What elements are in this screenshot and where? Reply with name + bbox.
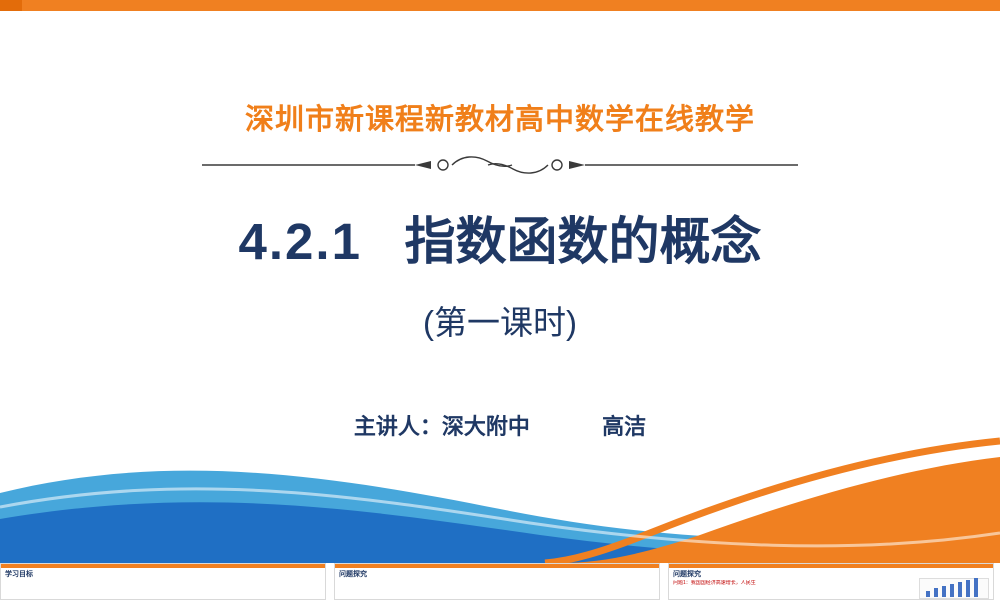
thumbnail-title: 问题探究 <box>673 569 701 579</box>
thumbnail-chart-bar <box>950 584 954 597</box>
thumbnail-chart-bar <box>958 582 962 597</box>
thumbnail-chart-bar <box>926 591 930 597</box>
thumbnail-chart <box>919 578 989 599</box>
page-title-number: 4.2.1 <box>239 213 362 270</box>
slide-thumbnail-strip: 学习目标 问题探究 问题探究 问题1：我国国经济高速增长，人民生 <box>0 563 1000 600</box>
thumbnail-accent-bar <box>335 564 659 568</box>
thumbnail-chart-bar <box>974 578 978 597</box>
thumbnail-accent-bar <box>669 564 993 568</box>
page-title-text: 指数函数的概念 <box>404 213 761 270</box>
slide-canvas: 深圳市新课程新教材高中数学在线教学 4.2.1 指数函数的概念 (第一课时) 主… <box>0 0 1000 563</box>
top-orange-bar <box>0 0 1000 11</box>
thumbnail-chart-bar <box>942 586 946 597</box>
decorative-waves <box>0 423 1000 563</box>
page-title: 4.2.1 指数函数的概念 <box>0 200 1000 274</box>
course-title: 深圳市新课程新教材高中数学在线教学 <box>0 96 1000 138</box>
thumbnail-title: 问题探究 <box>339 569 367 579</box>
ornamental-divider <box>200 152 800 178</box>
page-subtitle: (第一课时) <box>0 296 1000 344</box>
thumbnail-accent-bar <box>1 564 325 568</box>
thumbnail-chart-bar <box>966 580 970 597</box>
top-bar-accent <box>0 0 22 11</box>
slide-thumbnail-2[interactable]: 问题探究 <box>334 563 660 600</box>
thumbnail-title: 学习目标 <box>5 569 33 579</box>
thumbnail-chart-bar <box>934 588 938 597</box>
slide-thumbnail-1[interactable]: 学习目标 <box>0 563 326 600</box>
slide-thumbnail-3[interactable]: 问题探究 问题1：我国国经济高速增长，人民生 <box>668 563 994 600</box>
